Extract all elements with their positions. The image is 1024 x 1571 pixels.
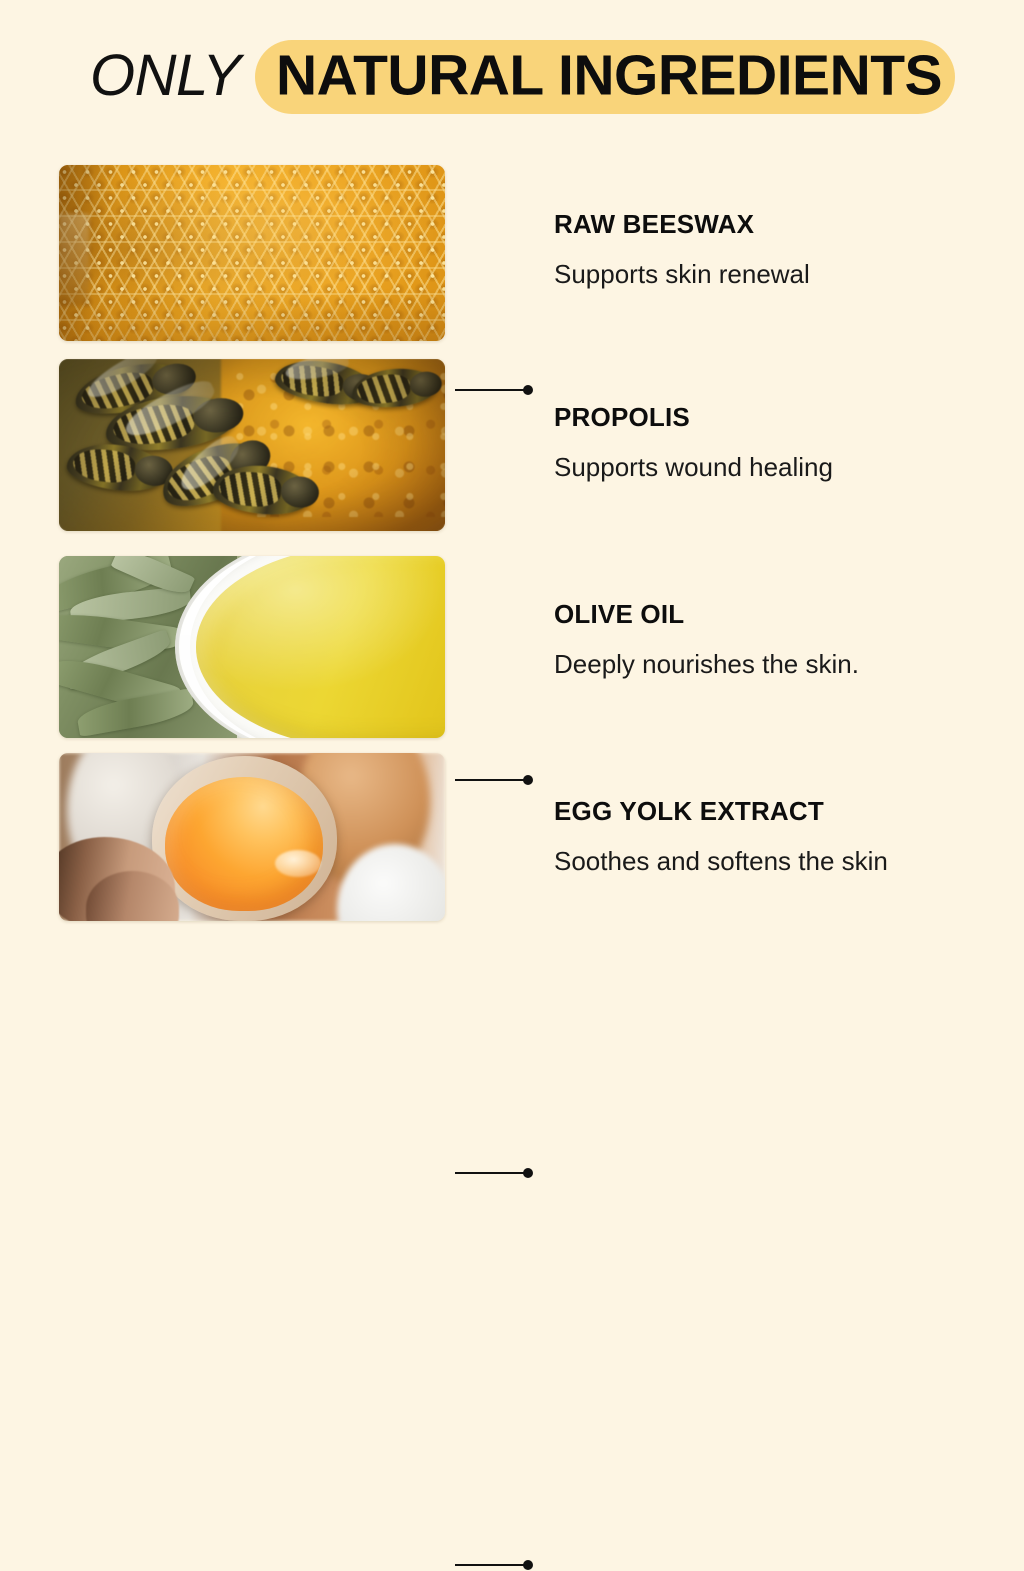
ingredient-description: Deeply nourishes the skin.	[554, 650, 859, 680]
infographic-page: ONLY NATURAL INGREDIENTS RAW BEESWAX Sup…	[0, 0, 1024, 1023]
connector-stroke	[455, 1172, 527, 1174]
ingredient-name: RAW BEESWAX	[554, 210, 810, 239]
honeycomb-shading	[59, 165, 445, 341]
ingredient-description: Supports wound healing	[554, 453, 833, 483]
title-main-text: NATURAL INGREDIENTS	[276, 48, 942, 105]
ingredient-text-propolis: PROPOLIS Supports wound healing	[554, 403, 833, 482]
ingredient-name: PROPOLIS	[554, 403, 833, 432]
ingredient-row-egg-yolk: EGG YOLK EXTRACT Soothes and softens the…	[0, 753, 1024, 921]
honeycomb-image	[59, 165, 445, 341]
ingredient-description: Supports skin renewal	[554, 260, 810, 290]
ingredient-name: OLIVE OIL	[554, 600, 859, 629]
connector-dot	[523, 1168, 533, 1178]
ingredient-description: Soothes and softens the skin	[554, 847, 888, 877]
connector-stroke	[455, 1564, 527, 1566]
ingredient-text-egg-yolk: EGG YOLK EXTRACT Soothes and softens the…	[554, 797, 888, 876]
propolis-vignette	[59, 359, 445, 531]
egg-yolk	[165, 777, 323, 911]
ingredient-row-raw-beeswax: RAW BEESWAX Supports skin renewal	[0, 165, 1024, 341]
ingredient-text-olive-oil: OLIVE OIL Deeply nourishes the skin.	[554, 600, 859, 679]
egg-yolk-image	[59, 753, 445, 921]
propolis-image	[59, 359, 445, 531]
connector-dot	[523, 1560, 533, 1570]
ingredient-name: EGG YOLK EXTRACT	[554, 797, 888, 826]
ingredient-row-propolis: PROPOLIS Supports wound healing	[0, 359, 1024, 531]
page-title: ONLY NATURAL INGREDIENTS	[0, 36, 1024, 116]
bowl-rim	[179, 556, 445, 738]
ingredient-text-raw-beeswax: RAW BEESWAX Supports skin renewal	[554, 210, 810, 289]
ingredient-row-olive-oil: OLIVE OIL Deeply nourishes the skin.	[0, 556, 1024, 738]
olive-oil-image	[59, 556, 445, 738]
title-lead-word: ONLY	[90, 47, 241, 105]
